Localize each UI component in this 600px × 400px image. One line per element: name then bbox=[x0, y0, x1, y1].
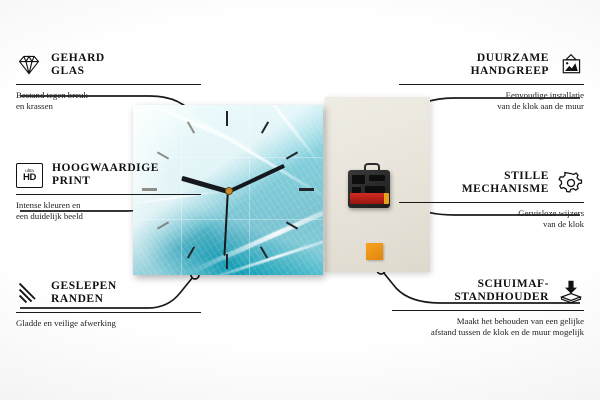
feature-hoogwaardige-print: ultra HD HOOGWAARDIGE PRINT Intense kleu… bbox=[16, 162, 201, 222]
feature-divider bbox=[399, 84, 584, 85]
feature-desc-line2: van de klok bbox=[399, 219, 584, 230]
foam-spacer-icon bbox=[558, 279, 584, 303]
feature-duurzame-handgreep: DUURZAME HANDGREEP Eenvoudige installati… bbox=[399, 52, 584, 112]
feature-divider bbox=[399, 202, 584, 203]
infographic-canvas: GEHARD GLAS Bestand tegen breuk en krass… bbox=[0, 0, 600, 400]
feature-divider bbox=[392, 310, 584, 311]
feature-desc-line2: afstand tussen de klok en de muur mogeli… bbox=[392, 327, 584, 338]
feature-title-line1: SCHUIMAF- bbox=[454, 278, 549, 291]
picture-hanger-icon bbox=[558, 53, 584, 77]
tick-3 bbox=[299, 188, 314, 191]
feature-desc-line2: van de klok aan de muur bbox=[399, 101, 584, 112]
feature-desc-line1: Eenvoudige installatie bbox=[399, 90, 584, 101]
feature-title-line1: GESLEPEN bbox=[51, 280, 117, 293]
feature-geslepen-randen: GESLEPEN RANDEN Gladde en veilige afwerk… bbox=[16, 280, 201, 329]
clock-battery bbox=[350, 193, 384, 204]
foam-spacer-pad bbox=[366, 243, 383, 260]
feature-title-line2: RANDEN bbox=[51, 293, 117, 306]
feature-desc-line1: Geruisloze wijzers bbox=[399, 208, 584, 219]
feature-title-line1: DUURZAME bbox=[471, 52, 549, 65]
feature-title-line1: HOOGWAARDIGE bbox=[52, 162, 159, 175]
feature-title-line2: HANDGREEP bbox=[471, 65, 549, 78]
feature-desc-line1: Gladde en veilige afwerking bbox=[16, 318, 201, 329]
feature-title-line1: GEHARD bbox=[51, 52, 105, 65]
feature-desc-line1: Maakt het behouden van een gelijke bbox=[392, 316, 584, 327]
gear-icon bbox=[558, 171, 584, 195]
feature-gehard-glas: GEHARD GLAS Bestand tegen breuk en krass… bbox=[16, 52, 201, 112]
feature-desc-line2: een duidelijk beeld bbox=[16, 211, 201, 222]
diamond-icon bbox=[16, 53, 42, 77]
clock-hands-hub bbox=[225, 187, 233, 195]
feature-schuimafstandhouder: SCHUIMAF- STANDHOUDER Maakt het behouden… bbox=[392, 278, 584, 338]
feature-title-line2: MECHANISME bbox=[462, 183, 549, 196]
ultra-hd-icon: ultra HD bbox=[16, 163, 43, 188]
feature-stille-mechanisme: STILLE MECHANISME Geruisloze wijzers van… bbox=[399, 170, 584, 230]
feature-desc-line2: en krassen bbox=[16, 101, 201, 112]
feature-divider bbox=[16, 194, 201, 195]
feature-title-line1: STILLE bbox=[462, 170, 549, 183]
feature-desc-line1: Intense kleuren en bbox=[16, 200, 201, 211]
feature-divider bbox=[16, 84, 201, 85]
tick-6 bbox=[226, 254, 228, 269]
tick-12 bbox=[226, 111, 228, 126]
battery-positive-terminal bbox=[384, 193, 389, 204]
feature-title-line2: PRINT bbox=[52, 175, 159, 188]
feature-divider bbox=[16, 312, 201, 313]
ultra-hd-icon-big-label: HD bbox=[23, 173, 36, 182]
feature-title-line2: STANDHOUDER bbox=[454, 291, 549, 304]
bevelled-edges-icon bbox=[16, 281, 42, 305]
feature-desc-line1: Bestand tegen breuk bbox=[16, 90, 201, 101]
feature-title-line2: GLAS bbox=[51, 65, 105, 78]
